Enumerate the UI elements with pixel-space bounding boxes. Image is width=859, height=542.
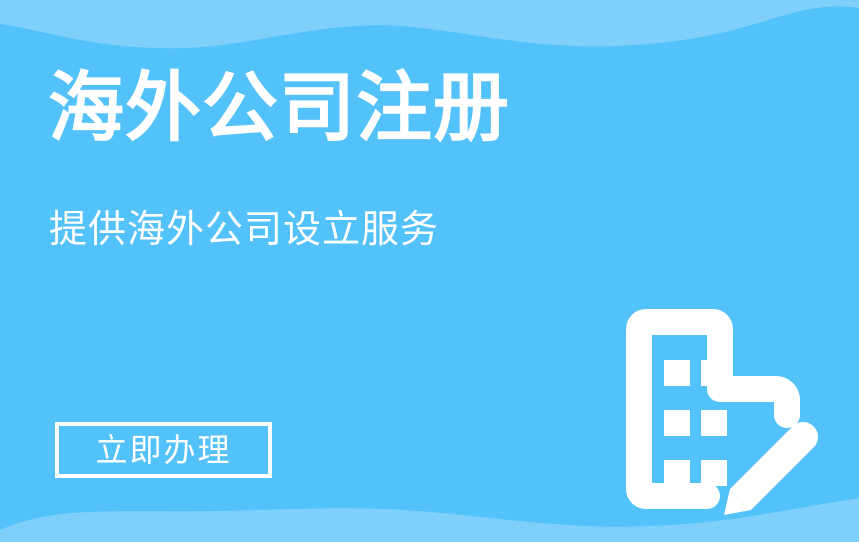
- apply-now-button[interactable]: 立即办理: [55, 422, 272, 478]
- page-title: 海外公司注册: [48, 66, 510, 152]
- building-with-pencil-icon: [608, 303, 822, 515]
- banner-content: 海外公司注册 提供海外公司设立服务 立即办理: [0, 0, 859, 542]
- apply-now-button-label: 立即办理: [95, 433, 231, 467]
- page-subtitle: 提供海外公司设立服务: [49, 206, 439, 254]
- overseas-company-registration-banner: 海外公司注册 提供海外公司设立服务 立即办理: [0, 0, 859, 542]
